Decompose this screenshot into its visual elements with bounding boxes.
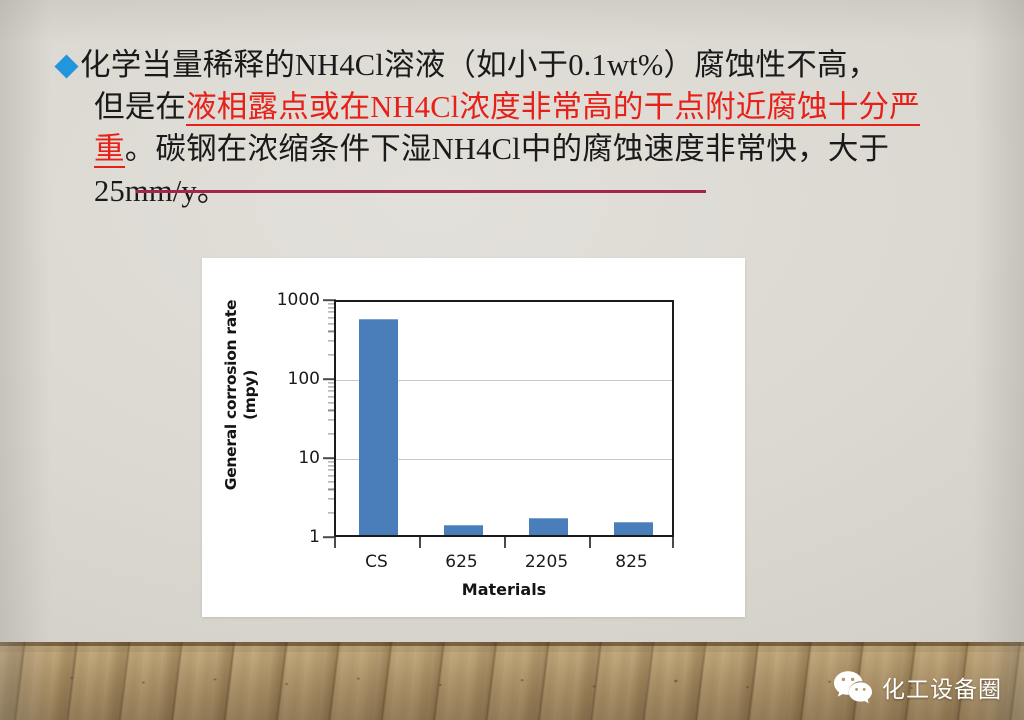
chart-x-tick: [672, 537, 674, 548]
bullet-line-1-text: 化学当量稀释的NH4Cl溶液（如小于0.1wt%）腐蚀性不高，: [80, 48, 878, 82]
bullet-line-2-text-red: 液相露点或在NH4Cl浓度非常高的干点附近腐蚀十分严: [186, 90, 920, 126]
chart-x-tick-labels: CS6252205825: [334, 552, 674, 578]
chart-x-tick-label: 2205: [525, 552, 568, 572]
chart-bar: [614, 522, 653, 535]
bar-chart: General corrosion rate (mpy) 1101001000 …: [202, 258, 745, 617]
watermark: 化工设备圈: [833, 670, 1002, 704]
slide-canvas: 化学当量稀释的NH4Cl溶液（如小于0.1wt%）腐蚀性不高， 但是在液相露点或…: [0, 0, 1024, 720]
chart-card: General corrosion rate (mpy) 1101001000 …: [202, 258, 745, 617]
chart-bar: [359, 319, 398, 535]
chart-x-ticks: [334, 537, 674, 548]
chart-x-axis-title: Materials: [334, 580, 674, 599]
diamond-bullet-icon: [54, 54, 78, 78]
watermark-text: 化工设备圈: [882, 670, 1002, 704]
bullet-line-2: 但是在液相露点或在NH4Cl浓度非常高的干点附近腐蚀十分严: [58, 86, 978, 128]
chart-y-tick-labels: 1101001000: [258, 300, 330, 537]
bullet-line-3-text-black: 。碳钢在浓缩条件下湿NH4Cl中的腐蚀速度非常快，大于: [125, 132, 890, 166]
chart-x-tick: [419, 537, 421, 548]
chart-x-tick: [334, 537, 336, 548]
chart-x-tick: [589, 537, 591, 548]
bullet-line-1: 化学当量稀释的NH4Cl溶液（如小于0.1wt%）腐蚀性不高，: [58, 44, 978, 86]
chart-y-axis-title-line1: General corrosion rate: [222, 280, 241, 510]
bullet-line-2-text-black: 但是在: [94, 90, 186, 124]
chart-bar: [444, 525, 483, 535]
chart-x-tick-label: 825: [615, 552, 647, 572]
bullet-line-3-text-red: 重: [94, 132, 125, 168]
red-underline-rule: [136, 190, 706, 193]
chart-x-tick-label: 625: [445, 552, 477, 572]
chart-y-tick-label: 1000: [254, 290, 320, 310]
chart-x-tick-label: CS: [365, 552, 388, 572]
chart-x-tick: [504, 537, 506, 548]
bullet-line-3: 重。碳钢在浓缩条件下湿NH4Cl中的腐蚀速度非常快，大于: [58, 128, 978, 170]
chart-y-tick-label: 10: [254, 448, 320, 468]
slide-body-text: 化学当量稀释的NH4Cl溶液（如小于0.1wt%）腐蚀性不高， 但是在液相露点或…: [58, 44, 978, 212]
chart-y-axis-title: General corrosion rate (mpy): [222, 280, 260, 510]
chart-plot-area: [334, 300, 674, 537]
chart-bar: [529, 518, 568, 535]
wechat-icon: [833, 670, 873, 704]
chart-y-tick-label: 100: [254, 369, 320, 389]
chart-y-tick-label: 1: [254, 527, 320, 547]
